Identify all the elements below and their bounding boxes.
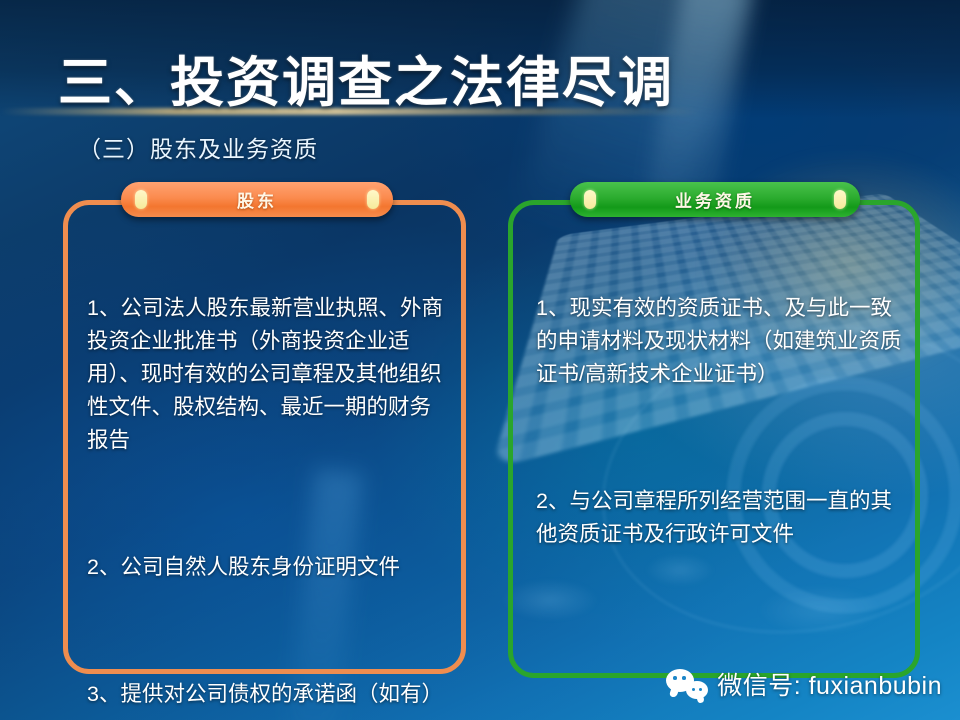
wechat-watermark: 微信号: fuxianbubin <box>666 666 942 702</box>
slide-canvas: 三、投资调查之法律尽调 （三）股东及业务资质 股东 1、公司法人股东最新营业执照… <box>0 0 960 720</box>
qualification-card-body: 1、现实有效的资质证书、及与此一致的申请材料及现状材料（如建筑业资质证书/高新技… <box>536 226 906 617</box>
shareholder-card-body: 1、公司法人股东最新营业执照、外商投资企业批准书（外商投资企业适用）、现时有效的… <box>87 226 447 720</box>
shareholder-card-banner-label: 股东 <box>237 187 277 212</box>
pill-left-dot-icon <box>135 190 147 209</box>
page-subtitle: （三）股东及业务资质 <box>78 130 318 164</box>
wechat-icon <box>666 669 708 699</box>
qualification-card-banner: 业务资质 <box>570 182 860 217</box>
shareholder-card: 股东 1、公司法人股东最新营业执照、外商投资企业批准书（外商投资企业适用）、现时… <box>63 200 466 674</box>
wechat-id-label: 微信号: fuxianbubin <box>717 666 942 702</box>
qualification-card-banner-label: 业务资质 <box>675 187 755 212</box>
qualification-item-1: 1、现实有效的资质证书、及与此一致的申请材料及现状材料（如建筑业资质证书/高新技… <box>536 292 906 391</box>
shareholder-item-2: 2、公司自然人股东身份证明文件 <box>87 551 447 584</box>
pill-right-dot-icon <box>367 190 379 209</box>
shareholder-item-1: 1、公司法人股东最新营业执照、外商投资企业批准书（外商投资企业适用）、现时有效的… <box>87 292 447 457</box>
qualification-item-2: 2、与公司章程所列经营范围一直的其他资质证书及行政许可文件 <box>536 485 906 551</box>
shareholder-item-3: 3、提供对公司债权的承诺函（如有） <box>87 678 447 711</box>
pill-left-dot-icon <box>584 190 596 209</box>
shareholder-card-banner: 股东 <box>121 182 393 217</box>
qualification-card: 业务资质 1、现实有效的资质证书、及与此一致的申请材料及现状材料（如建筑业资质证… <box>508 200 920 678</box>
pill-right-dot-icon <box>834 190 846 209</box>
page-title: 三、投资调查之法律尽调 <box>58 38 674 117</box>
